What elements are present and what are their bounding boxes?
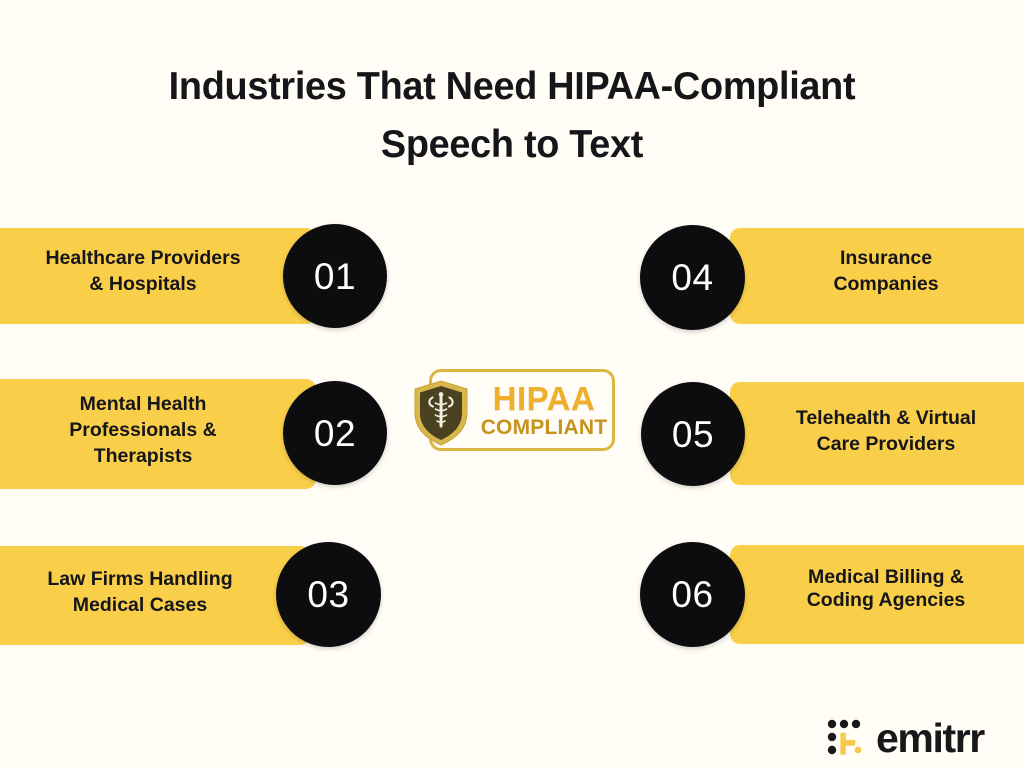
item-number: 02 xyxy=(314,415,356,452)
item-number-badge: 01 xyxy=(283,224,387,328)
item-number: 03 xyxy=(307,576,349,613)
emitrr-wordmark: emitrr xyxy=(876,718,984,759)
badge-hipaa-text: HIPAA xyxy=(493,382,596,416)
page-title-wrap: Industries That Need HIPAA-Compliant Spe… xyxy=(0,58,1024,173)
item-number: 05 xyxy=(672,416,714,453)
item-number-badge: 05 xyxy=(641,382,745,486)
badge-compliant-text: COMPLIANT xyxy=(481,417,608,439)
list-item-05[interactable]: 05 Telehealth & Virtual Care Providers xyxy=(624,382,1024,485)
item-number-badge: 02 xyxy=(283,381,387,485)
item-number: 04 xyxy=(671,259,713,296)
list-item-02[interactable]: Mental Health Professionals & Therapists… xyxy=(0,379,400,489)
hipaa-compliant-badge: HIPAA COMPLIANT xyxy=(411,367,619,455)
emitrr-dot-grid-icon xyxy=(826,717,868,759)
item-number: 06 xyxy=(671,576,713,613)
badge-text: HIPAA COMPLIANT xyxy=(471,373,617,449)
list-item-label: Medical Billing & Coding Agencies xyxy=(755,566,1017,612)
item-number-badge: 04 xyxy=(640,225,745,330)
item-number: 01 xyxy=(314,258,356,295)
page-title: Industries That Need HIPAA-Compliant Spe… xyxy=(15,58,1008,173)
list-item-04[interactable]: 04 Insurance Companies xyxy=(624,228,1024,324)
list-item-label: Law Firms Handling Medical Cases xyxy=(6,567,274,619)
list-item-label: Healthcare Providers & Hospitals xyxy=(6,246,280,298)
item-number-badge: 06 xyxy=(640,542,745,647)
emitrr-logo[interactable]: emitrr xyxy=(826,714,1014,762)
list-item-01[interactable]: Healthcare Providers & Hospitals 01 xyxy=(0,228,400,324)
list-item-06[interactable]: 06 Medical Billing & Coding Agencies xyxy=(624,545,1024,644)
list-item-label: Insurance Companies xyxy=(755,246,1017,298)
item-number-badge: 03 xyxy=(276,542,381,647)
list-item-label: Mental Health Professionals & Therapists xyxy=(6,392,280,470)
caduceus-shield-icon xyxy=(411,379,471,447)
list-item-03[interactable]: Law Firms Handling Medical Cases 03 xyxy=(0,546,400,645)
list-item-label: Telehealth & Virtual Care Providers xyxy=(755,406,1017,458)
